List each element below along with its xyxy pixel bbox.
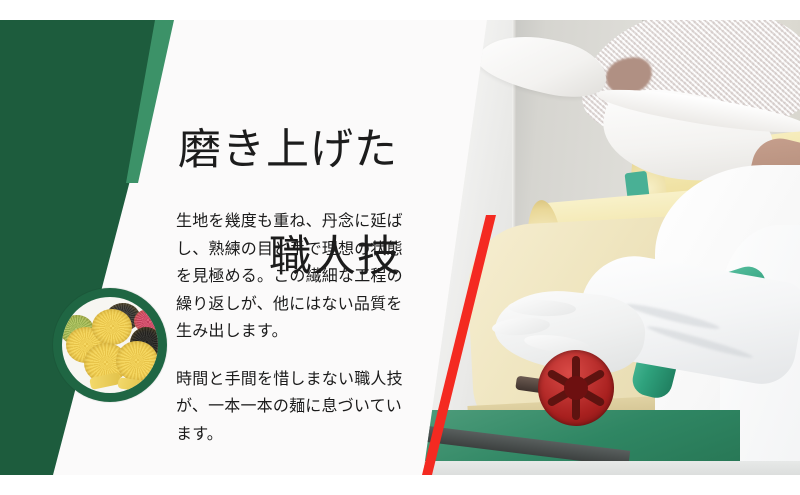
pasta-nest-4: [116, 341, 158, 381]
factory-floor: [420, 461, 800, 475]
body-paragraph-2: 時間と手間を惜しまない職人技が、一本一本の麺に息づいています。: [176, 366, 414, 449]
pasta-badge: [53, 288, 167, 402]
pasta-nests-photo: [62, 297, 158, 393]
handwheel-hub: [564, 376, 588, 400]
body-paragraph-1: 生地を幾度も重ね、丹念に延ばし、熟練の目と手で理想の状態を見極める。この繊細な工…: [176, 208, 414, 346]
body-text-column: 生地を幾度も重ね、丹念に延ばし、熟練の目と手で理想の状態を見極める。この繊細な工…: [176, 208, 414, 448]
pasta-nest-2: [92, 309, 132, 345]
slide-canvas: 磨き上げた 職人技 生地を幾度も重ね、丹念に延ばし、熟練の目と手で理想の状態を見…: [0, 0, 800, 495]
page-title-line-1: 磨き上げた: [178, 124, 448, 178]
penne-piece-2: [117, 377, 144, 392]
